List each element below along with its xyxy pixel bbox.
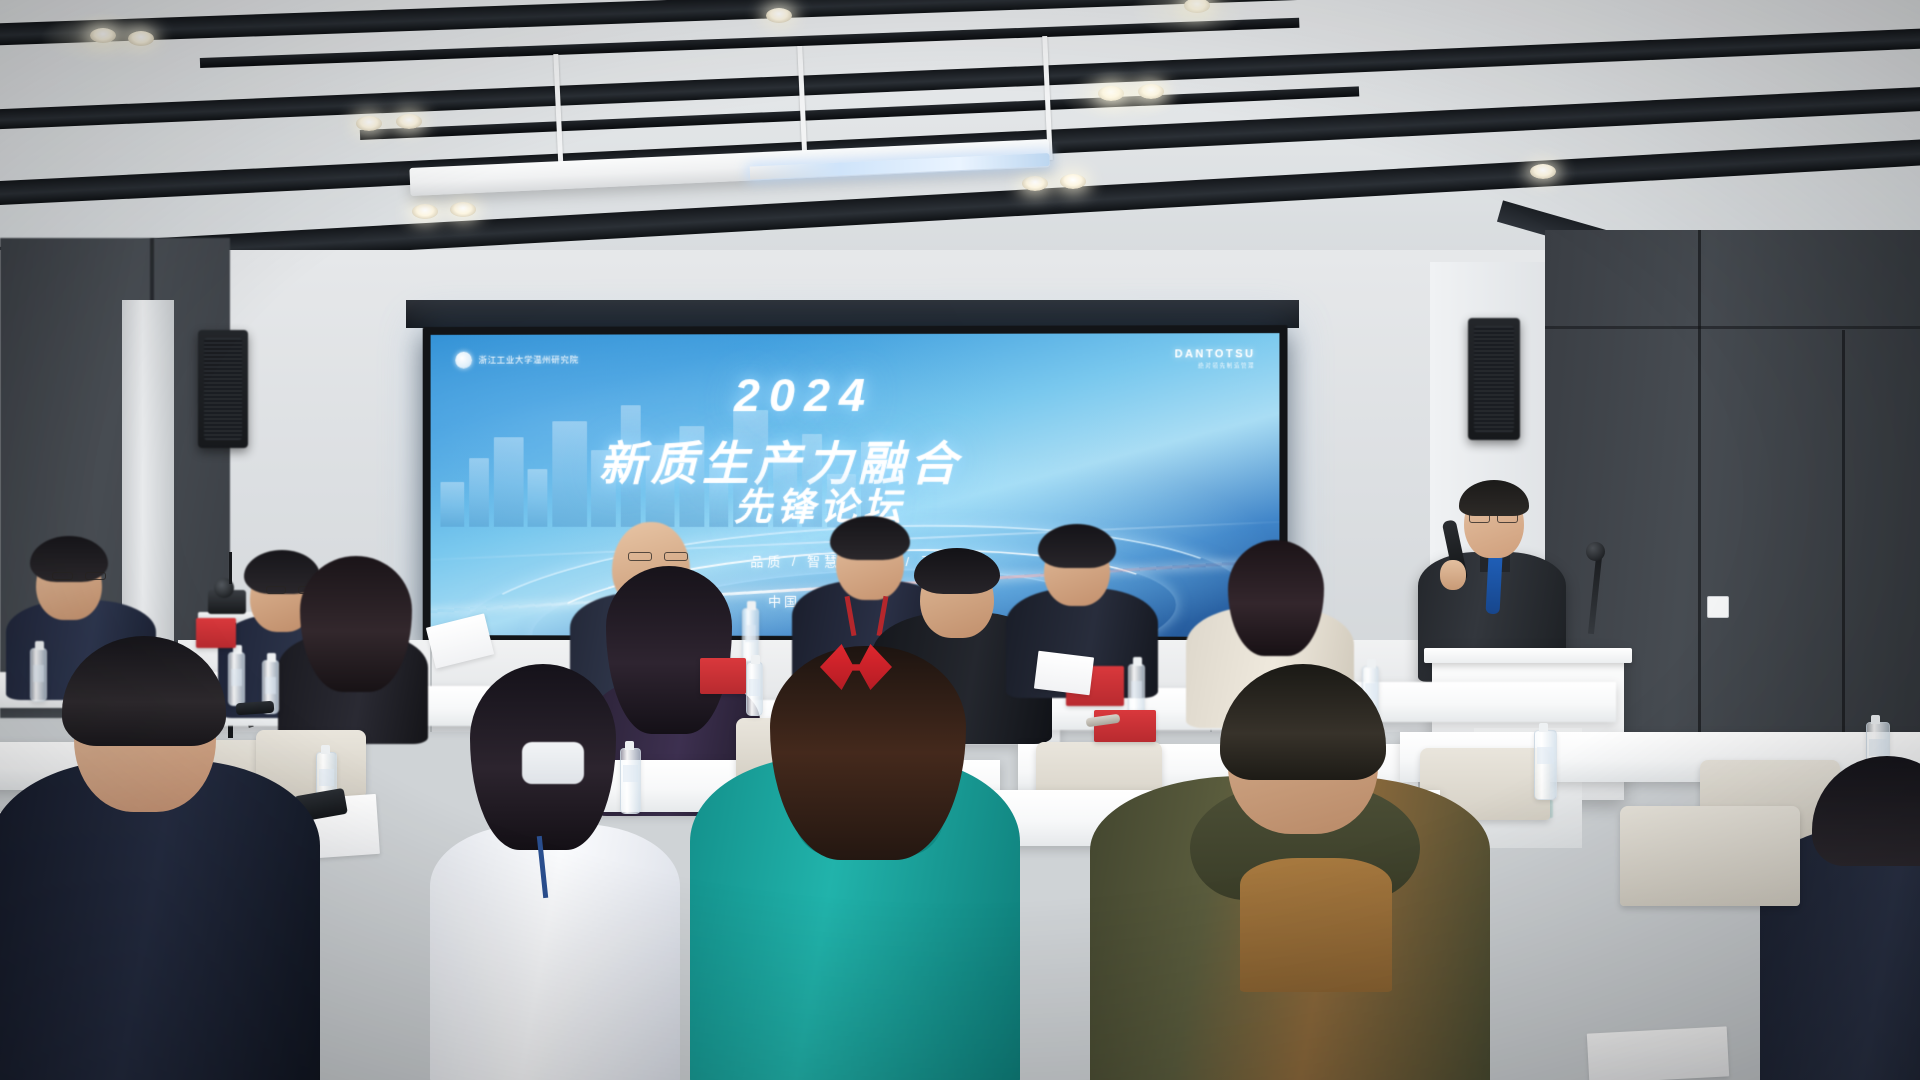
microphone-head-icon — [1586, 542, 1605, 561]
hoodie-panel — [1240, 858, 1392, 992]
ceiling-spotlight — [1022, 176, 1048, 191]
screen-logo-left-text: 浙江工业大学温州研究院 — [479, 354, 579, 366]
brand-subtitle: 绝对领先制造管理 — [1174, 361, 1255, 369]
screen-logo-right: DANTOTSU 绝对领先制造管理 — [1174, 348, 1255, 369]
screen-logo-left: 浙江工业大学温州研究院 — [456, 351, 579, 368]
circular-emblem-icon — [456, 351, 473, 368]
notepad — [1587, 1026, 1729, 1080]
slide-year: 2024 — [734, 367, 874, 422]
ceiling-spotlight — [90, 28, 116, 43]
ceiling-spotlight — [356, 116, 382, 131]
water-bottle — [742, 608, 759, 662]
document-folder — [700, 658, 746, 694]
document-folder — [196, 618, 236, 648]
right-wall-trim — [1545, 326, 1920, 329]
tripod-antenna — [229, 552, 232, 584]
presenter-hand — [1440, 560, 1466, 590]
conference-hall-scene: 浙江工业大学温州研究院 DANTOTSU 绝对领先制造管理 2024 新质生产力… — [0, 0, 1920, 1080]
wall-speaker-left — [198, 330, 248, 448]
water-bottle — [1534, 730, 1557, 800]
ceiling-spotlight — [128, 31, 154, 46]
ceiling-spotlight — [1530, 164, 1556, 179]
wall-speaker-right — [1468, 318, 1520, 440]
water-bottle — [228, 652, 245, 706]
ceiling-spotlight — [1138, 84, 1164, 99]
wall-seam — [1842, 330, 1845, 750]
pendant-light-glow — [750, 153, 1050, 180]
light-switch[interactable] — [1707, 596, 1729, 618]
ceiling-spotlight — [412, 204, 438, 219]
paper-sheet — [1034, 651, 1094, 696]
wall-seam — [1698, 230, 1701, 750]
lectern-top — [1424, 648, 1632, 663]
ceiling-spotlight — [396, 114, 422, 129]
screen-bezel — [406, 300, 1299, 328]
ceiling-spotlight — [1184, 0, 1210, 13]
ceiling-spotlight — [1098, 86, 1124, 101]
face-mask — [522, 742, 584, 784]
water-bottle — [746, 662, 763, 716]
ceiling-spotlight — [1060, 174, 1086, 189]
ceiling-spotlight — [766, 8, 792, 23]
water-bottle — [30, 648, 47, 702]
glasses-icon — [628, 552, 688, 561]
glasses-icon — [1469, 512, 1518, 521]
chair — [1620, 806, 1800, 906]
water-bottle — [620, 748, 641, 814]
glasses-icon — [52, 572, 106, 580]
brand-name: DANTOTSU — [1174, 348, 1255, 360]
ceiling-spotlight — [450, 202, 476, 217]
